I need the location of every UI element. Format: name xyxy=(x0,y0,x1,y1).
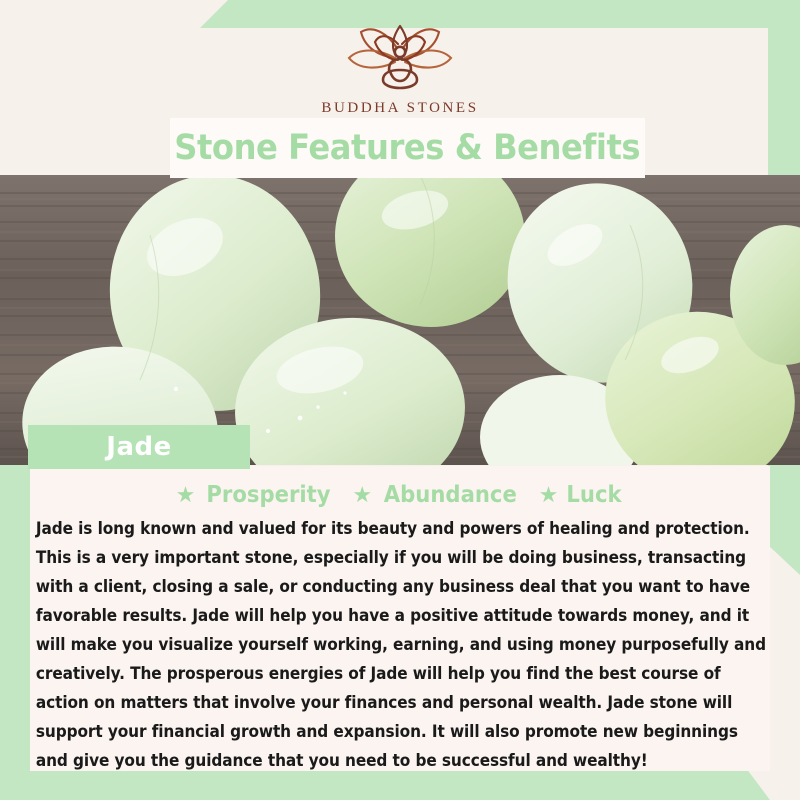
benefit-item-luck: ★ Luck xyxy=(539,482,625,508)
benefit-label: Abundance xyxy=(384,482,517,508)
benefit-label: Luck xyxy=(567,482,622,508)
stone-description: Jade is long known and valued for its be… xyxy=(34,514,773,775)
title-banner: Stone Features & Benefits xyxy=(170,118,645,178)
page-title: Stone Features & Benefits xyxy=(175,128,641,168)
brand-name: BUDDHA STONES xyxy=(321,100,478,117)
jade-stones-illustration xyxy=(0,175,800,465)
star-icon: ★ xyxy=(176,484,196,506)
benefits-list: ★ Prosperity ★ Abundance ★ Luck xyxy=(34,482,766,508)
star-icon: ★ xyxy=(352,484,372,506)
content-panel: ★ Prosperity ★ Abundance ★ Luck Jade is … xyxy=(30,466,770,771)
hero-image xyxy=(0,175,800,465)
stone-name-banner: Jade xyxy=(28,425,250,469)
benefit-item-abundance: ★ Abundance xyxy=(352,482,522,508)
stone-name: Jade xyxy=(106,432,171,462)
star-icon: ★ xyxy=(539,484,559,506)
lotus-meditation-icon xyxy=(335,18,465,96)
benefit-label: Prosperity xyxy=(207,482,331,508)
infographic-page: BUDDHA STONES Stone Features & Benefits xyxy=(0,0,800,800)
brand-logo: BUDDHA STONES xyxy=(0,18,800,117)
benefit-item-prosperity: ★ Prosperity xyxy=(176,482,337,508)
